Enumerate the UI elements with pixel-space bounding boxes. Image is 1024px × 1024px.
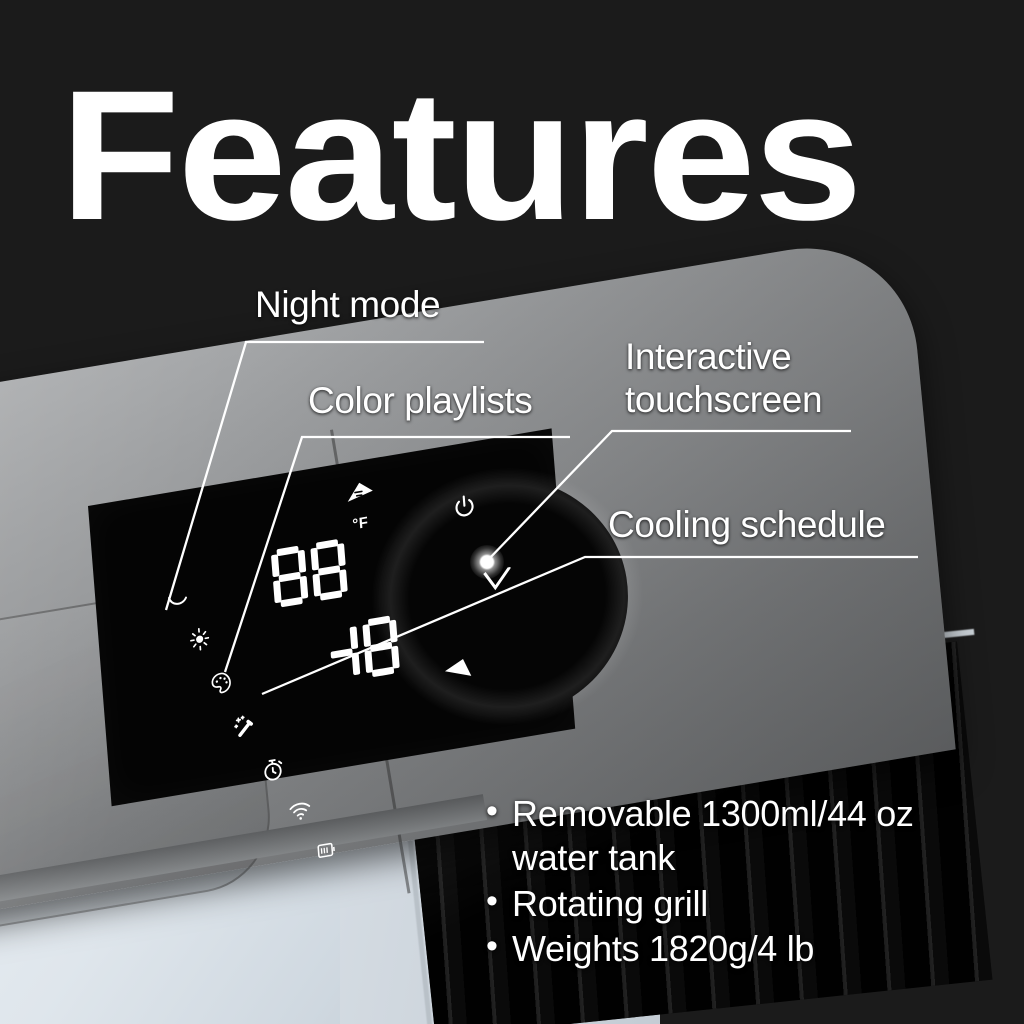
timer-icon[interactable] <box>259 755 287 785</box>
brightness-icon[interactable] <box>187 625 213 653</box>
callout-cooling-schedule: Cooling schedule <box>608 504 885 545</box>
page-title: Features <box>60 64 860 249</box>
moon-icon[interactable] <box>164 582 192 612</box>
seg-digit <box>310 538 348 602</box>
list-item: Removable 1300ml/44 oz water tank <box>512 792 986 881</box>
triangle-up-icon[interactable] <box>343 478 374 505</box>
spec-list: Removable 1300ml/44 oz water tank Rotati… <box>486 792 986 971</box>
temperature-unit-label: °F <box>352 514 369 534</box>
check-icon[interactable] <box>482 567 513 596</box>
battery-icon[interactable] <box>313 837 338 863</box>
palette-icon[interactable] <box>208 668 235 697</box>
wifi-icon[interactable] <box>286 797 314 825</box>
power-icon[interactable] <box>450 491 479 522</box>
list-item: Weights 1820g/4 lb <box>512 927 986 971</box>
magic-wand-icon[interactable] <box>232 711 259 740</box>
feature-infographic: °F <box>0 0 1024 1024</box>
callout-night-mode: Night mode <box>255 284 440 325</box>
spec-bullet-list: Removable 1300ml/44 oz water tank Rotati… <box>486 792 986 972</box>
seg-digit <box>271 545 309 609</box>
seg-digit <box>323 621 361 685</box>
triangle-down-icon[interactable] <box>443 654 476 683</box>
callout-interactive-touchscreen-line1: Interactive <box>625 336 791 377</box>
temperature-readout-primary <box>271 538 349 608</box>
temperature-readout-secondary <box>323 615 401 685</box>
callout-color-playlists: Color playlists <box>308 380 532 421</box>
callout-interactive-touchscreen-line2: touchscreen <box>625 379 822 420</box>
list-item: Rotating grill <box>512 882 986 926</box>
seg-digit <box>362 615 400 679</box>
